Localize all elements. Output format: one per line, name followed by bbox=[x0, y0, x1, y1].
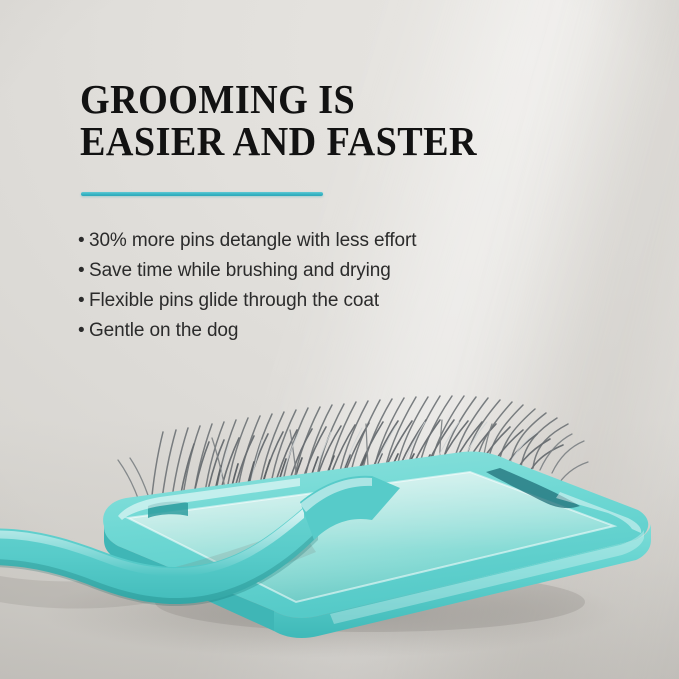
list-item-label: 30% more pins detangle with less effort bbox=[89, 228, 416, 254]
list-item-label: Flexible pins glide through the coat bbox=[89, 288, 379, 314]
bullet-icon: • bbox=[78, 288, 89, 314]
list-item: • Save time while brushing and drying bbox=[78, 258, 598, 288]
bullet-icon: • bbox=[78, 258, 89, 284]
bullet-icon: • bbox=[78, 228, 89, 254]
page-title: GROOMING IS EASIER AND FASTER bbox=[80, 78, 582, 162]
benefits-list: • 30% more pins detangle with less effor… bbox=[78, 228, 598, 348]
list-item: • 30% more pins detangle with less effor… bbox=[78, 228, 598, 258]
product-image bbox=[0, 340, 679, 679]
accent-divider bbox=[81, 192, 323, 196]
list-item: • Flexible pins glide through the coat bbox=[78, 288, 598, 318]
list-item-label: Save time while brushing and drying bbox=[89, 258, 391, 284]
promo-graphic: GROOMING IS EASIER AND FASTER • 30% more… bbox=[0, 0, 679, 679]
